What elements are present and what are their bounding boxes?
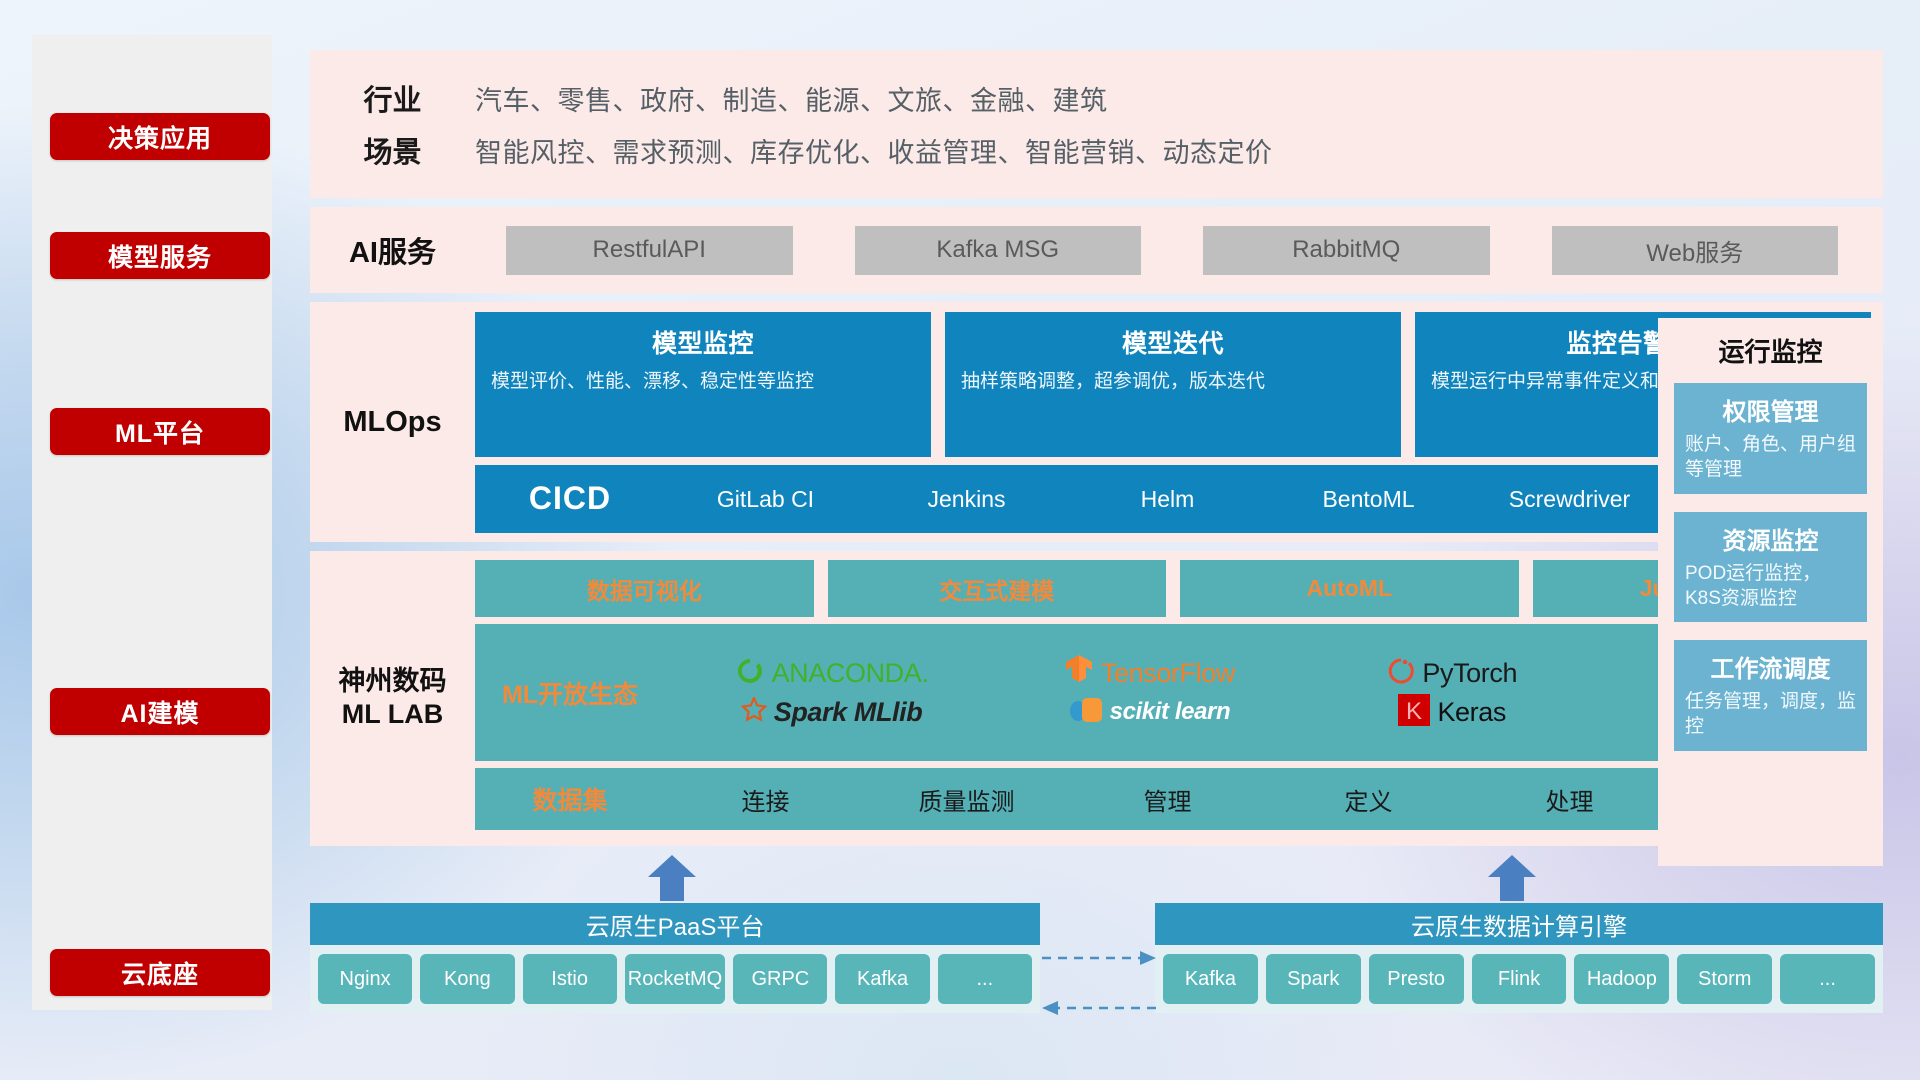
logo-text: scikit learn	[1110, 698, 1231, 726]
mlops-card-title: 模型监控	[491, 324, 915, 360]
svg-text:K: K	[1406, 698, 1422, 725]
tool-chip-data-visualization[interactable]: 数据可视化	[475, 560, 814, 617]
logo-spark-mllib[interactable]: Spark MLlib	[665, 697, 998, 728]
cloud-chip-rocketmq[interactable]: RocketMQ	[625, 954, 725, 1004]
cloud-chip-grpc[interactable]: GRPC	[733, 954, 827, 1004]
cloud-chip-more[interactable]: ...	[938, 954, 1032, 1004]
industry-values: 汽车、零售、政府、制造、能源、文旅、金融、建筑	[475, 79, 1108, 118]
architecture-main-column: 行业 汽车、零售、政府、制造、能源、文旅、金融、建筑 场景 智能风控、需求预测、…	[310, 50, 1883, 846]
pytorch-icon	[1387, 656, 1415, 691]
ml-lab-label-line2: ML LAB	[342, 698, 444, 731]
logo-anaconda[interactable]: ANACONDA.	[665, 656, 998, 691]
logo-text: Spark MLlib	[774, 697, 923, 728]
logo-text: Keras	[1437, 697, 1506, 728]
ml-open-ecosystem-label: ML开放生态	[475, 675, 665, 711]
logo-text: ANACONDA.	[772, 658, 929, 689]
bidirectional-link-arrows-icon	[1040, 946, 1158, 1022]
cloud-paas-chip-list: Nginx Kong Istio RocketMQ GRPC Kafka ...	[310, 945, 1040, 1013]
monitor-card-permission-management[interactable]: 权限管理 账户、角色、用户组等管理	[1674, 383, 1867, 494]
cicd-title: CICD	[475, 480, 665, 517]
ai-modeling-band: 神州数码 ML LAB 数据可视化 交互式建模 AutoML JupyterLa…	[310, 551, 1883, 846]
cloud-chip-nginx[interactable]: Nginx	[318, 954, 412, 1004]
dataset-item-quality-monitoring[interactable]: 质量监测	[866, 782, 1067, 817]
cicd-item-helm[interactable]: Helm	[1067, 487, 1268, 511]
dataset-title: 数据集	[475, 781, 665, 817]
logo-tensorflow[interactable]: TensorFlow	[998, 654, 1301, 693]
mlops-card-title: 模型迭代	[961, 324, 1385, 360]
tool-chip-interactive-modeling[interactable]: 交互式建模	[828, 560, 1167, 617]
monitor-card-title: 权限管理	[1685, 392, 1856, 427]
cicd-item-jenkins[interactable]: Jenkins	[866, 487, 1067, 511]
mlops-band: MLOps 模型监控 模型评价、性能、漂移、稳定性等监控 模型迭代 抽样策略调整…	[310, 302, 1883, 542]
anaconda-icon	[735, 656, 765, 691]
ai-service-chip-list: RestfulAPI Kafka MSG RabbitMQ Web服务	[475, 226, 1883, 275]
paas-up-arrow-icon	[646, 855, 698, 901]
ml-lab-label-line1: 神州数码	[339, 665, 447, 698]
mlops-card-model-monitoring[interactable]: 模型监控 模型评价、性能、漂移、稳定性等监控	[475, 312, 931, 457]
ai-service-chip-rabbitmq[interactable]: RabbitMQ	[1203, 226, 1490, 275]
cloud-native-paas-block: 云原生PaaS平台 Nginx Kong Istio RocketMQ GRPC…	[310, 903, 1040, 1013]
cloud-engine-chip-list: Kafka Spark Presto Flink Hadoop Storm ..…	[1155, 945, 1883, 1013]
monitor-card-workflow-scheduling[interactable]: 工作流调度 任务管理，调度，监控	[1674, 640, 1867, 751]
keras-icon: K	[1398, 694, 1430, 731]
monitor-card-desc: POD运行监控，K8S资源监控	[1685, 561, 1856, 612]
logo-scikit-learn[interactable]: scikit learn	[998, 695, 1301, 730]
logo-keras[interactable]: K Keras	[1301, 694, 1604, 731]
dataset-item-processing[interactable]: 处理	[1469, 782, 1670, 817]
stage-pill-model-service[interactable]: 模型服务	[50, 232, 270, 279]
mlops-label: MLOps	[310, 312, 475, 533]
cloud-native-data-engine-block: 云原生数据计算引擎 Kafka Spark Presto Flink Hadoo…	[1155, 903, 1883, 1013]
engine-chip-spark[interactable]: Spark	[1266, 954, 1361, 1004]
logo-pytorch[interactable]: PyTorch	[1301, 656, 1604, 691]
dataset-item-management[interactable]: 管理	[1067, 782, 1268, 817]
runtime-monitoring-panel: 运行监控 权限管理 账户、角色、用户组等管理 资源监控 POD运行监控，K8S资…	[1658, 318, 1883, 866]
stage-rail	[32, 35, 272, 1010]
engine-chip-storm[interactable]: Storm	[1677, 954, 1772, 1004]
monitor-card-title: 资源监控	[1685, 521, 1856, 556]
logo-text: TensorFlow	[1101, 658, 1235, 689]
cicd-item-bentoml[interactable]: BentoML	[1268, 487, 1469, 511]
cloud-engine-title: 云原生数据计算引擎	[1155, 903, 1883, 945]
engine-chip-flink[interactable]: Flink	[1472, 954, 1567, 1004]
cloud-chip-istio[interactable]: Istio	[523, 954, 617, 1004]
monitor-card-desc: 任务管理，调度，监控	[1685, 689, 1856, 740]
industry-row: 行业 汽车、零售、政府、制造、能源、文旅、金融、建筑	[310, 72, 1883, 124]
ai-service-label: AI服务	[310, 229, 475, 271]
monitor-card-desc: 账户、角色、用户组等管理	[1685, 432, 1856, 483]
cloud-paas-title: 云原生PaaS平台	[310, 903, 1040, 945]
industry-label: 行业	[310, 77, 475, 119]
ai-service-chip-kafka-msg[interactable]: Kafka MSG	[855, 226, 1142, 275]
monitor-card-resource-monitoring[interactable]: 资源监控 POD运行监控，K8S资源监控	[1674, 512, 1867, 623]
scikit-learn-icon	[1069, 695, 1103, 730]
mlops-card-model-iteration[interactable]: 模型迭代 抽样策略调整，超参调优，版本迭代	[945, 312, 1401, 457]
dataset-item-definition[interactable]: 定义	[1268, 782, 1469, 817]
tensorflow-icon	[1064, 654, 1094, 693]
mlops-card-desc: 模型评价、性能、漂移、稳定性等监控	[491, 369, 915, 395]
logo-text: PyTorch	[1422, 658, 1517, 689]
cloud-chip-kong[interactable]: Kong	[420, 954, 514, 1004]
mlops-card-desc: 抽样策略调整，超参调优，版本迭代	[961, 369, 1385, 395]
cloud-chip-kafka[interactable]: Kafka	[835, 954, 929, 1004]
engine-up-arrow-icon	[1486, 855, 1538, 901]
dataset-item-connect[interactable]: 连接	[665, 782, 866, 817]
ai-service-chip-restfulapi[interactable]: RestfulAPI	[506, 226, 793, 275]
decision-apps-band: 行业 汽车、零售、政府、制造、能源、文旅、金融、建筑 场景 智能风控、需求预测、…	[310, 50, 1883, 198]
stage-pill-cloud-base[interactable]: 云底座	[50, 949, 270, 996]
ml-lab-label: 神州数码 ML LAB	[310, 560, 475, 836]
tool-chip-automl[interactable]: AutoML	[1180, 560, 1519, 617]
engine-chip-hadoop[interactable]: Hadoop	[1574, 954, 1669, 1004]
cicd-item-gitlab-ci[interactable]: GitLab CI	[665, 487, 866, 511]
scenario-row: 场景 智能风控、需求预测、库存优化、收益管理、智能营销、动态定价	[310, 124, 1883, 176]
stage-pill-ai-modeling[interactable]: AI建模	[50, 688, 270, 735]
stage-pill-decision-apps[interactable]: 决策应用	[50, 113, 270, 160]
ai-service-chip-web-service[interactable]: Web服务	[1552, 226, 1839, 275]
runtime-monitoring-title: 运行监控	[1674, 332, 1867, 369]
ai-service-band: AI服务 RestfulAPI Kafka MSG RabbitMQ Web服务	[310, 207, 1883, 293]
engine-chip-presto[interactable]: Presto	[1369, 954, 1464, 1004]
spark-icon	[741, 697, 767, 728]
scenario-values: 智能风控、需求预测、库存优化、收益管理、智能营销、动态定价	[475, 131, 1273, 170]
scenario-label: 场景	[310, 129, 475, 171]
stage-pill-ml-platform[interactable]: ML平台	[50, 408, 270, 455]
monitor-card-title: 工作流调度	[1685, 649, 1856, 684]
engine-chip-kafka[interactable]: Kafka	[1163, 954, 1258, 1004]
cicd-item-screwdriver[interactable]: Screwdriver	[1469, 487, 1670, 511]
engine-chip-more[interactable]: ...	[1780, 954, 1875, 1004]
